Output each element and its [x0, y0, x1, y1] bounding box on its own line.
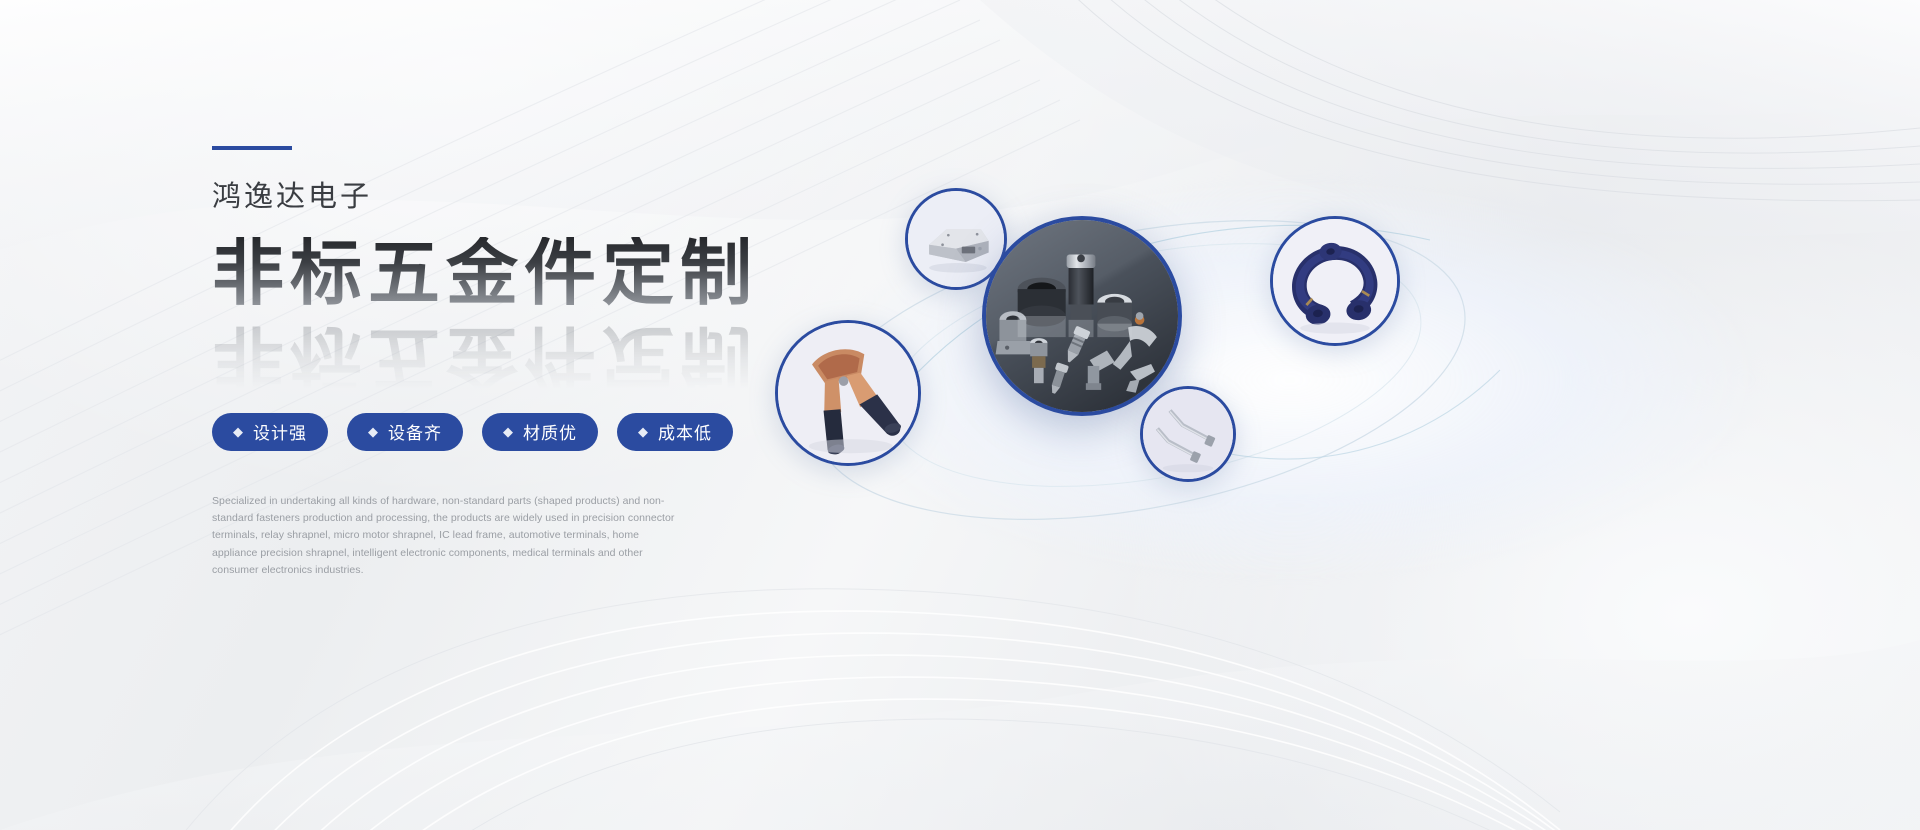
product-bubble-retaining-ring[interactable]	[1270, 216, 1400, 346]
feature-tag-label: 成本低	[658, 419, 712, 444]
feature-tag-design[interactable]: ◆ 设计强	[212, 413, 328, 451]
diamond-icon: ◆	[233, 425, 244, 438]
product-bubble-hero-parts[interactable]	[982, 216, 1182, 416]
company-description: Specialized in undertaking all kinds of …	[212, 493, 682, 580]
precision-hardware-parts-photo	[986, 220, 1178, 412]
diamond-icon: ◆	[368, 425, 379, 438]
diamond-icon: ◆	[503, 425, 514, 438]
brand-name: 鸿逸达电子	[212, 180, 852, 215]
diamond-icon: ◆	[638, 425, 649, 438]
accent-bar	[212, 146, 292, 150]
feature-tag-label: 材质优	[523, 419, 577, 444]
feature-tag-list: ◆ 设计强 ◆ 设备齐 ◆ 材质优 ◆ 成本低	[212, 413, 852, 451]
headline-block: 非标五金件定制 非标五金件定制	[212, 237, 852, 387]
feature-tag-label: 设备齐	[388, 419, 442, 444]
navy-retaining-ring-photo	[1273, 219, 1397, 343]
product-bubble-terminal-pins[interactable]	[1140, 386, 1236, 482]
page-title: 非标五金件定制	[212, 237, 852, 313]
feature-tag-material[interactable]: ◆ 材质优	[482, 413, 598, 451]
feature-tag-label: 设计强	[253, 419, 307, 444]
feature-tag-cost[interactable]: ◆ 成本低	[617, 413, 733, 451]
hero-banner: 鸿逸达电子 非标五金件定制 非标五金件定制 ◆ 设计强 ◆ 设备齐 ◆ 材质优 …	[0, 0, 1920, 830]
feature-tag-equipment[interactable]: ◆ 设备齐	[347, 413, 463, 451]
product-showcase	[740, 120, 1900, 640]
bent-metal-terminal-pins-photo	[1143, 389, 1233, 479]
hero-content: 鸿逸达电子 非标五金件定制 非标五金件定制 ◆ 设计强 ◆ 设备齐 ◆ 材质优 …	[212, 146, 852, 579]
headline-reflection: 非标五金件定制	[212, 319, 758, 395]
